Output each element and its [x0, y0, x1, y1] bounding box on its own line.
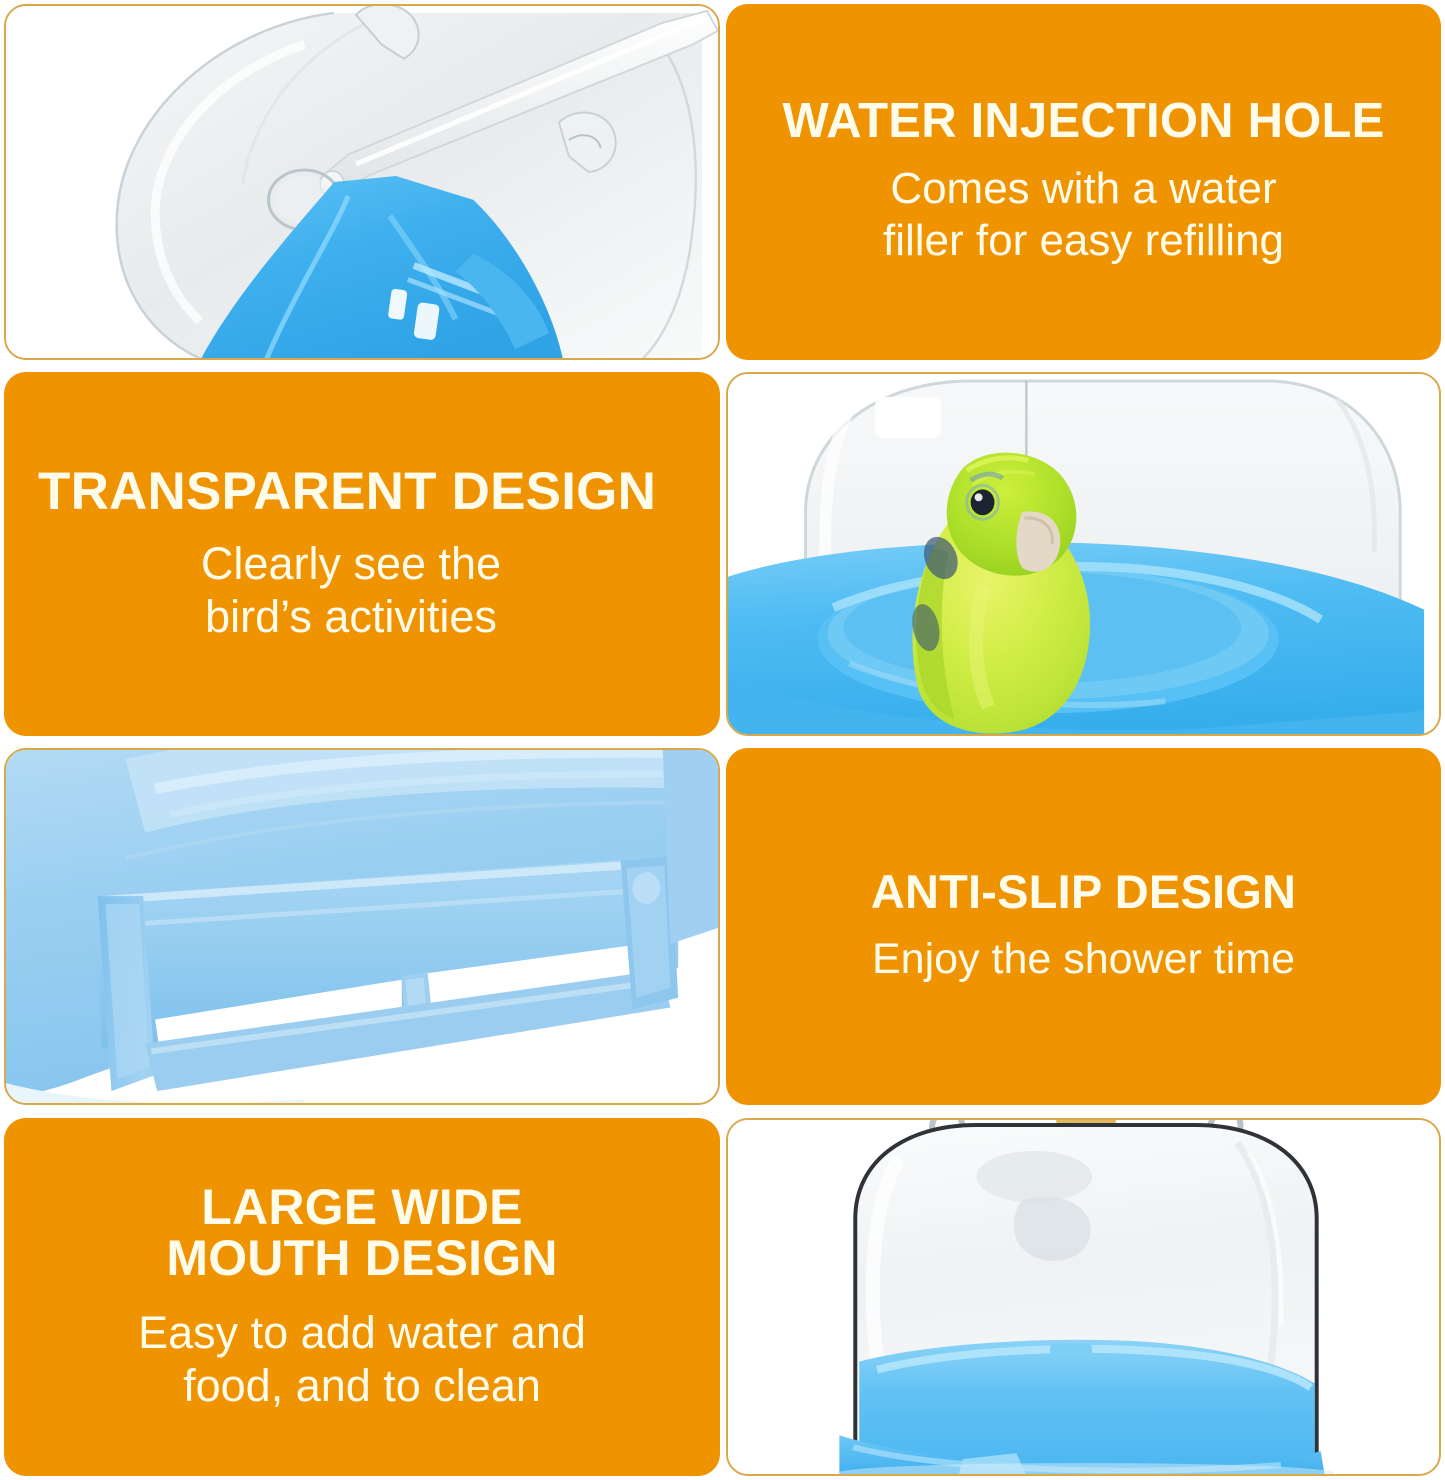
feature-subtext-anti-slip-design: Enjoy the shower time [872, 934, 1295, 985]
feature-heading-water-injection-hole: WATER INJECTION HOLE [782, 97, 1384, 147]
feature-text-transparent-design: TRANSPARENT DESIGN Clearly see the bird’… [4, 372, 720, 736]
heading-line: MOUTH DESIGN [166, 1233, 557, 1284]
feature-photo-large-wide-mouth-design [726, 1118, 1441, 1476]
feature-subtext-large-wide-mouth-design: Easy to add water and food, and to clean [138, 1306, 586, 1412]
subtext-line: Enjoy the shower time [872, 934, 1295, 985]
subtext-line: food, and to clean [138, 1359, 586, 1412]
feature-heading-transparent-design: TRANSPARENT DESIGN [38, 465, 704, 519]
photo-bird-in-bath [728, 374, 1439, 734]
heading-line: LARGE WIDE [166, 1182, 557, 1233]
feature-text-water-injection-hole: WATER INJECTION HOLE Comes with a water … [726, 4, 1441, 360]
photo-full-birdbath-unit [728, 1120, 1439, 1474]
subtext-line: Clearly see the [38, 537, 664, 590]
subtext-line: filler for easy refilling [883, 215, 1284, 267]
photo-anti-slip-perch [6, 750, 718, 1103]
photo-water-injection-hole [6, 6, 718, 358]
feature-photo-anti-slip-design [4, 748, 720, 1105]
feature-subtext-transparent-design: Clearly see the bird’s activities [38, 537, 704, 643]
infographic-root: WATER INJECTION HOLE Comes with a water … [0, 0, 1445, 1480]
feature-photo-water-injection-hole [4, 4, 720, 360]
feature-photo-transparent-design [726, 372, 1441, 736]
feature-heading-large-wide-mouth-design: LARGE WIDE MOUTH DESIGN [166, 1182, 557, 1284]
feature-subtext-water-injection-hole: Comes with a water filler for easy refil… [883, 163, 1284, 267]
subtext-line: bird’s activities [38, 590, 664, 643]
feature-text-anti-slip-design: ANTI-SLIP DESIGN Enjoy the shower time [726, 748, 1441, 1105]
feature-heading-anti-slip-design: ANTI-SLIP DESIGN [871, 868, 1296, 916]
feature-text-large-wide-mouth-design: LARGE WIDE MOUTH DESIGN Easy to add wate… [4, 1118, 720, 1476]
subtext-line: Comes with a water [883, 163, 1284, 215]
subtext-line: Easy to add water and [138, 1306, 586, 1359]
